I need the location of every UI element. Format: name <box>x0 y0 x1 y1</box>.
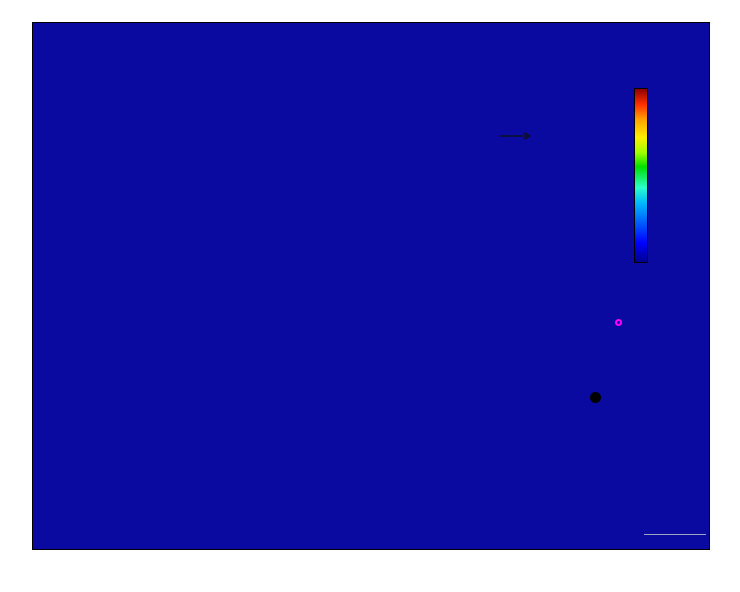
vector-scale-arrow-icon <box>498 130 538 142</box>
colorbar-gradient <box>634 88 648 263</box>
map-overlay <box>32 22 710 550</box>
colorbar <box>634 88 648 263</box>
dongara-marker-icon <box>590 392 601 403</box>
colorbar-title <box>676 22 696 292</box>
map-plot-area <box>32 22 710 550</box>
credit-text <box>716 150 736 570</box>
depth-contour-rule <box>644 534 706 535</box>
argo-marker-icon <box>615 319 622 326</box>
